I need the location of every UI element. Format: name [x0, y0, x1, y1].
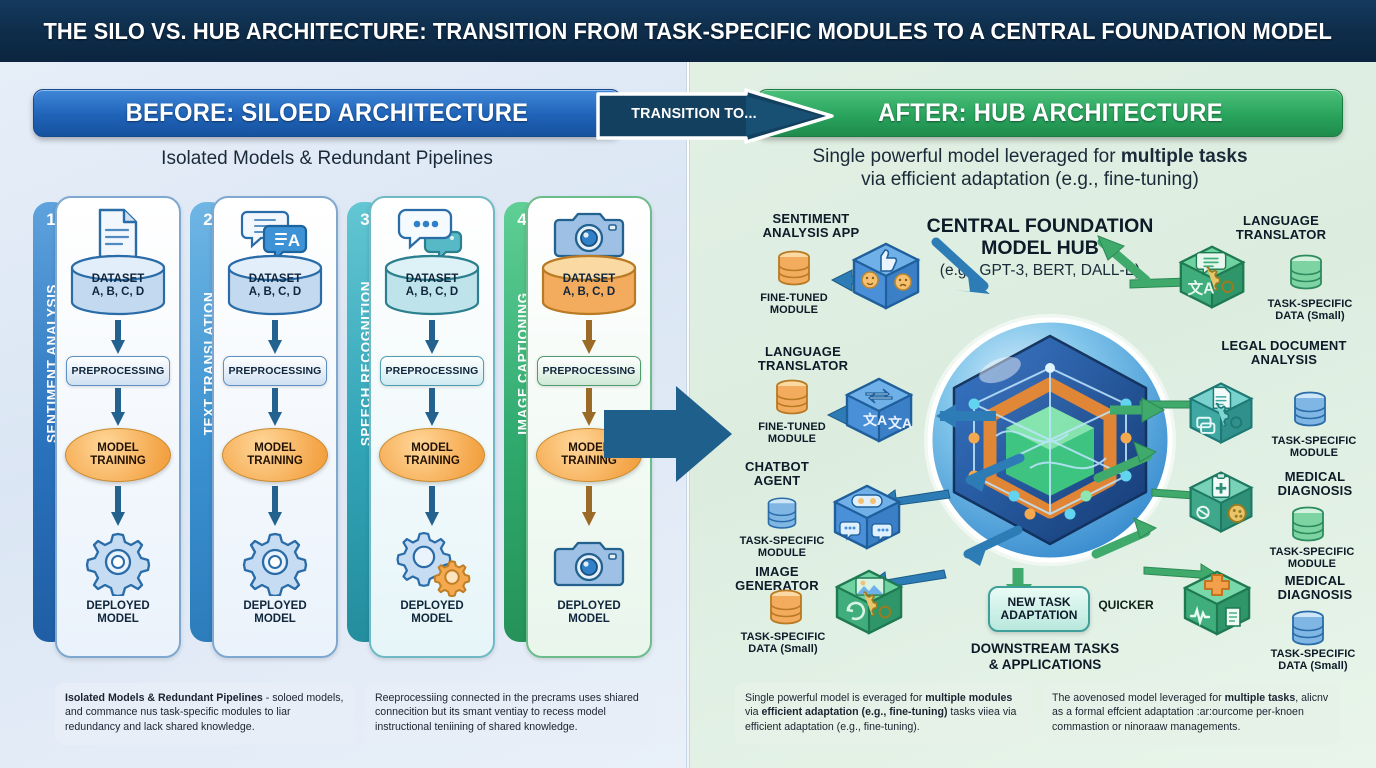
hub-node-chatbot-name: CHATBOT AGENT [712, 460, 842, 489]
silo-3-preprocessing-box: PREPROCESSING [380, 356, 484, 386]
downstream-line1: DOWNSTREAM TASKS [971, 641, 1119, 656]
hub-node-medical-2-name: MEDICAL DIAGNOSIS [1260, 574, 1370, 603]
silo-2-deployed-line1: DEPLOYED [243, 600, 306, 612]
silo-1-model-training: MODELTRAINING [65, 428, 171, 482]
silo-2-dataset-text: DATASET A, B, C, D [225, 273, 325, 299]
hub-node-medical-2-artifact: TASK-SPECIFIC DATA (Small) [1254, 648, 1372, 673]
silo-2-preprocessing-box: PREPROCESSING [223, 356, 327, 386]
blue-database-icon [764, 496, 800, 532]
after-header-pill: AFTER: HUB ARCHITECTURE [757, 89, 1343, 137]
silo-1-training-line1: MODEL [97, 442, 139, 454]
after-subtitle: Single powerful model leveraged for mult… [710, 146, 1350, 192]
silo-column-2: 2 TEXT TRANSLATION A DATASET A, B, C, D [190, 196, 338, 658]
before-header-pill: BEFORE: SILOED ARCHITECTURE [33, 89, 621, 137]
transition-label: TRANSITION TO... [614, 105, 774, 122]
hub-node-sentiment-analysis-app[interactable]: SENTIMENT ANALYSIS APP FINE-TUNED MODULE [736, 212, 916, 322]
after-subtitle-line1b: multiple tasks [1121, 146, 1248, 167]
new-task-line1: NEW TASK [1007, 595, 1070, 609]
silo-1-dataset-line1: DATASET [92, 273, 145, 285]
silo-3-deployed-label: DEPLOYED MODEL [371, 600, 493, 626]
new-task-line2: ADAPTATION [1001, 608, 1078, 622]
silo-4-arrow-1-icon [581, 320, 597, 356]
hub-node-chatbot-agent[interactable]: CHATBOT AGENT TASK-SPECIFIC MODULE [712, 460, 912, 570]
silo-3-training-line2: TRAINING [404, 455, 460, 467]
hub-node-translator-left-name: LANGUAGE TRANSLATOR [728, 345, 878, 374]
blue-database-icon [1290, 391, 1330, 429]
silo-4-arrow-2-icon [581, 388, 597, 428]
silo-2-training-line1: MODEL [254, 442, 296, 454]
blue-database-icon [1288, 610, 1328, 648]
silo-2-dataset-line1: DATASET [249, 273, 302, 285]
caption-4-a: The aovenosed model leveraged for [1052, 692, 1225, 704]
silo-1-deployed-label: DEPLOYED MODEL [57, 600, 179, 626]
hub-node-medical-1-name: MEDICAL DIAGNOSIS [1260, 470, 1370, 499]
svg-text:文A: 文A [863, 412, 887, 428]
hub-node-translator-right-name: LANGUAGE TRANSLATOR [1216, 214, 1346, 243]
page-title: THE SILO VS. HUB ARCHITECTURE: TRANSITIO… [44, 18, 1332, 45]
quicker-label: QUICKER [1096, 598, 1156, 612]
translate-gear-cube-icon: 文A [1174, 240, 1250, 314]
infographic-canvas: THE SILO VS. HUB ARCHITECTURE: TRANSITIO… [0, 0, 1376, 768]
hub-node-legal-name: LEGAL DOCUMENT ANALYSIS [1194, 339, 1374, 368]
double-gear-icon [393, 528, 471, 598]
silo-3-dataset-cylinder: DATASET A, B, C, D [382, 254, 482, 316]
hub-title: CENTRAL FOUNDATION MODEL HUB [890, 216, 1190, 260]
silo-1-dataset-text: DATASET A, B, C, D [68, 273, 168, 299]
silo-2-card: A DATASET A, B, C, D PREPROCESSING [212, 196, 338, 658]
silo-1-dataset-cylinder: DATASET A, B, C, D [68, 254, 168, 316]
caption-3-c: via [745, 706, 762, 718]
hub-node-image-generator-artifact: TASK-SPECIFIC DATA (Small) [724, 631, 842, 656]
silo-3-model-training: MODELTRAINING [379, 428, 485, 482]
silo-4-arrow-3-icon [581, 486, 597, 528]
svg-text:A: A [288, 231, 300, 250]
hub-node-sentiment-name: SENTIMENT ANALYSIS APP [736, 212, 886, 241]
hub-node-translator-right-artifact: TASK-SPECIFIC DATA (Small) [1254, 298, 1366, 323]
camera-icon [553, 534, 625, 592]
caption-3-a: Single powerful model is everaged for [745, 692, 925, 704]
silo-1-training-line2: TRAINING [90, 455, 146, 467]
silo-1-preprocessing-box: PREPROCESSING [66, 356, 170, 386]
hub-node-medical-diagnosis-1[interactable]: MEDICAL DIAGNOSIS TASK-SPECIFIC MODULE [1182, 462, 1376, 572]
silo-3-training-line1: MODEL [411, 442, 453, 454]
hub-node-medical-diagnosis-2[interactable]: MEDICAL DIAGNOSIS TASK-SPECIFIC DATA (Sm… [1182, 560, 1376, 670]
silo-4-dataset-cylinder: DATASET A, B, C, D [539, 254, 639, 316]
silo-2-dataset-line2: A, B, C, D [249, 286, 301, 298]
translate-swap-cube-icon: 文A 文A [840, 373, 918, 447]
hub-node-language-translator-left[interactable]: LANGUAGE TRANSLATOR 文A 文A FINE-TUNED MOD… [728, 345, 918, 457]
green-database-icon [1286, 254, 1326, 292]
network-cube-sphere-icon [918, 308, 1182, 572]
chat-cube-icon [828, 480, 906, 554]
hub-node-language-translator-right[interactable]: LANGUAGE TRANSLATOR 文A TASK-SPECIFIC DAT… [1182, 236, 1376, 346]
silo-1-deployed-line2: MODEL [97, 613, 139, 625]
silo-4-deployed-line2: MODEL [568, 613, 610, 625]
hub-node-image-generator[interactable]: IMAGE GENERATOR TASK-SPECIFIC DATA (Smal… [712, 565, 912, 670]
silo-1-deployed-line1: DEPLOYED [86, 600, 149, 612]
gear-icon [241, 528, 309, 596]
orange-database-icon [772, 379, 812, 417]
image-gear-cube-icon [830, 565, 908, 639]
caption-4-b: multiple tasks [1225, 692, 1296, 704]
silo-3-deployed-line1: DEPLOYED [400, 600, 463, 612]
silo-3-card: DATASET A, B, C, D PREPROCESSING MODELTR… [369, 196, 495, 658]
silo-2-arrow-1-icon [267, 320, 283, 356]
caption-box-4: The aovenosed model leveraged for multip… [1042, 683, 1340, 745]
caption-box-2: Reeprocessiing connected in the precrams… [365, 683, 657, 745]
silo-4-dataset-line2: A, B, C, D [563, 286, 615, 298]
green-database-icon [1288, 506, 1328, 544]
silo-4-dataset-line1: DATASET [563, 273, 616, 285]
medical-cross-cube-icon [1178, 566, 1256, 640]
title-bar: THE SILO VS. HUB ARCHITECTURE: TRANSITIO… [0, 0, 1376, 62]
hub-title-line2: MODEL HUB [981, 237, 1099, 259]
silo-3-dataset-line2: A, B, C, D [406, 286, 458, 298]
silo-2-deployed-line2: MODEL [254, 613, 296, 625]
caption-1-lead: Isolated Models & Redundant Pipelines [65, 692, 263, 704]
medical-clipboard-cube-icon [1184, 466, 1258, 538]
silo-4-deployed-label: DEPLOYED MODEL [528, 600, 650, 626]
silo-3-deployed-line2: MODEL [411, 613, 453, 625]
hub-node-legal-artifact: TASK-SPECIFIC MODULE [1256, 435, 1372, 460]
caption-3-d: efficient adaptation (e.g., fine-tuning) [762, 706, 948, 718]
silo-column-1: 1 SENTIMENT ANALYSIS DATASET A, B, C, D [33, 196, 181, 658]
thumbs-up-emoji-cube-icon [848, 238, 924, 314]
silo-2-training-line2: TRAINING [247, 455, 303, 467]
silo-3-arrow-2-icon [424, 388, 440, 428]
legal-document-cube-icon [1184, 377, 1258, 449]
silo-1-card: DATASET A, B, C, D PREPROCESSING MODELTR… [55, 196, 181, 658]
caption-box-1: Isolated Models & Redundant Pipelines - … [55, 683, 355, 745]
after-header-label: AFTER: HUB ARCHITECTURE [878, 99, 1223, 128]
svg-text:文A: 文A [888, 415, 912, 431]
downstream-line2: & APPLICATIONS [989, 657, 1102, 672]
silo-3-dataset-text: DATASET A, B, C, D [382, 273, 482, 299]
gear-icon [84, 528, 152, 596]
silo-2-dataset-cylinder: DATASET A, B, C, D [225, 254, 325, 316]
orange-database-icon [766, 589, 806, 627]
silo-1-arrow-1-icon [110, 320, 126, 356]
hub-node-translator-left-artifact: FINE-TUNED MODULE [742, 421, 842, 446]
after-subtitle-line1a: Single powerful model leveraged for [812, 146, 1120, 167]
silo-2-arrow-2-icon [267, 388, 283, 428]
caption-3-b: multiple modules [925, 692, 1012, 704]
hub-title-line1: CENTRAL FOUNDATION [927, 215, 1154, 237]
silo-2-deployed-label: DEPLOYED MODEL [214, 600, 336, 626]
before-header-label: BEFORE: SILOED ARCHITECTURE [126, 99, 529, 128]
silo-2-arrow-3-icon [267, 486, 283, 528]
silo-3-dataset-line1: DATASET [406, 273, 459, 285]
hub-node-chatbot-artifact: TASK-SPECIFIC MODULE [726, 535, 838, 560]
hub-node-sentiment-artifact: FINE-TUNED MODULE [744, 292, 844, 317]
silo-2-model-training: MODELTRAINING [222, 428, 328, 482]
silo-1-arrow-2-icon [110, 388, 126, 428]
after-subtitle-line2: via efficient adaptation (e.g., fine-tun… [861, 169, 1199, 190]
silo-1-arrow-3-icon [110, 486, 126, 528]
downstream-tasks-label: DOWNSTREAM TASKS & APPLICATIONS [930, 641, 1160, 672]
silo-3-arrow-3-icon [424, 486, 440, 528]
silo-column-3: 3 SPEECH RECOGNITION DATASET A, B, C, D [347, 196, 495, 658]
orange-database-icon [774, 250, 814, 288]
silo-1-dataset-line2: A, B, C, D [92, 286, 144, 298]
hub-subtitle: (e.g., GPT-3, BERT, DALL-E) [890, 262, 1190, 280]
silo-3-arrow-1-icon [424, 320, 440, 356]
svg-text:文A: 文A [1188, 279, 1215, 298]
new-task-adaptation-box[interactable]: NEW TASKADAPTATION [988, 586, 1090, 632]
hub-node-legal-document-analysis[interactable]: LEGAL DOCUMENT ANALYSIS TASK-SPECIFIC MO… [1182, 355, 1376, 467]
silo-4-deployed-line1: DEPLOYED [557, 600, 620, 612]
silo-4-dataset-text: DATASET A, B, C, D [539, 273, 639, 299]
transition-banner: TRANSITION TO... [596, 88, 836, 144]
before-subtitle: Isolated Models & Redundant Pipelines [33, 148, 621, 171]
caption-box-3: Single powerful model is everaged for mu… [735, 683, 1031, 745]
